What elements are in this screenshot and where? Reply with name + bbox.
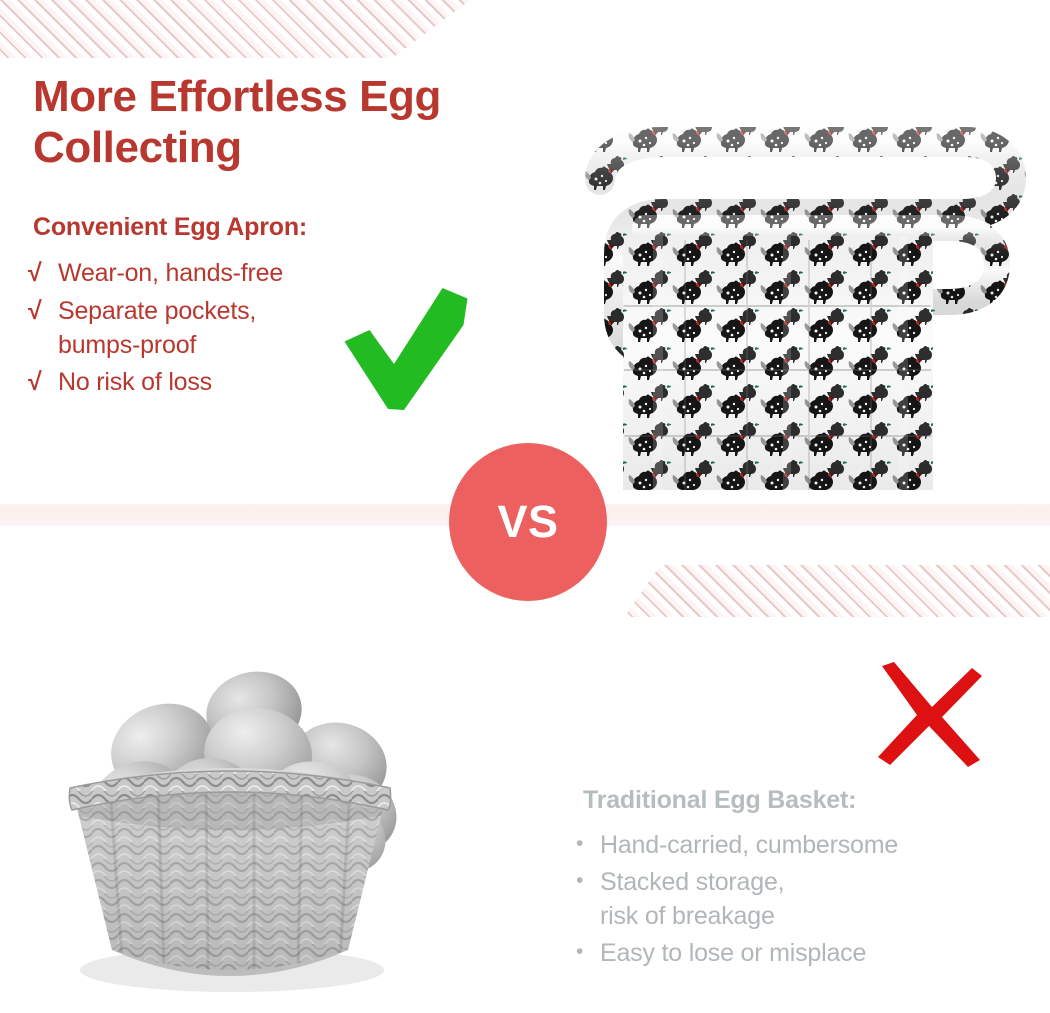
list-item: • Hand-carried, cumbersome [576,828,1026,862]
check-tick-icon: √ [28,366,58,400]
pro-item-label: No risk of loss [58,366,378,400]
con-section-heading: Traditional Egg Basket: [583,786,856,815]
con-drawback-list: • Hand-carried, cumbersome • Stacked sto… [576,828,1026,973]
bullet-dot-icon: • [576,865,600,897]
con-item-label: Easy to lose or misplace [600,936,1026,970]
egg-basket-image [40,638,420,1013]
con-item-label: Stacked storage, risk of breakage [600,865,1026,933]
diagonal-stripe-band-right [624,565,1050,617]
wicker-basket [60,768,405,978]
pro-feature-list: √ Wear-on, hands-free √ Separate pockets… [28,257,378,404]
pro-item-label: Separate pockets, bumps-proof [58,295,378,363]
diagonal-stripe-band-top [0,0,470,58]
bullet-dot-icon: • [576,936,600,968]
con-item-label: Hand-carried, cumbersome [600,828,1026,862]
list-item: • Stacked storage, risk of breakage [576,865,1026,933]
cross-mark-icon [872,660,986,770]
page-title: More Effortless Egg Collecting [33,71,573,174]
apron-product-image [495,118,1050,498]
infographic-canvas: More Effortless Egg Collecting Convenien… [0,0,1050,1013]
vs-badge-label: VS [497,496,558,548]
list-item: √ Separate pockets, bumps-proof [28,295,378,363]
apron-body [623,236,933,490]
pro-item-label: Wear-on, hands-free [58,257,378,291]
check-tick-icon: √ [28,295,58,329]
list-item: √ No risk of loss [28,366,378,400]
list-item: • Easy to lose or misplace [576,936,1026,970]
check-mark-icon [342,286,470,412]
check-tick-icon: √ [28,257,58,291]
pro-section-subheading: Convenient Egg Apron: [33,213,307,242]
bullet-dot-icon: • [576,828,600,860]
list-item: √ Wear-on, hands-free [28,257,378,291]
